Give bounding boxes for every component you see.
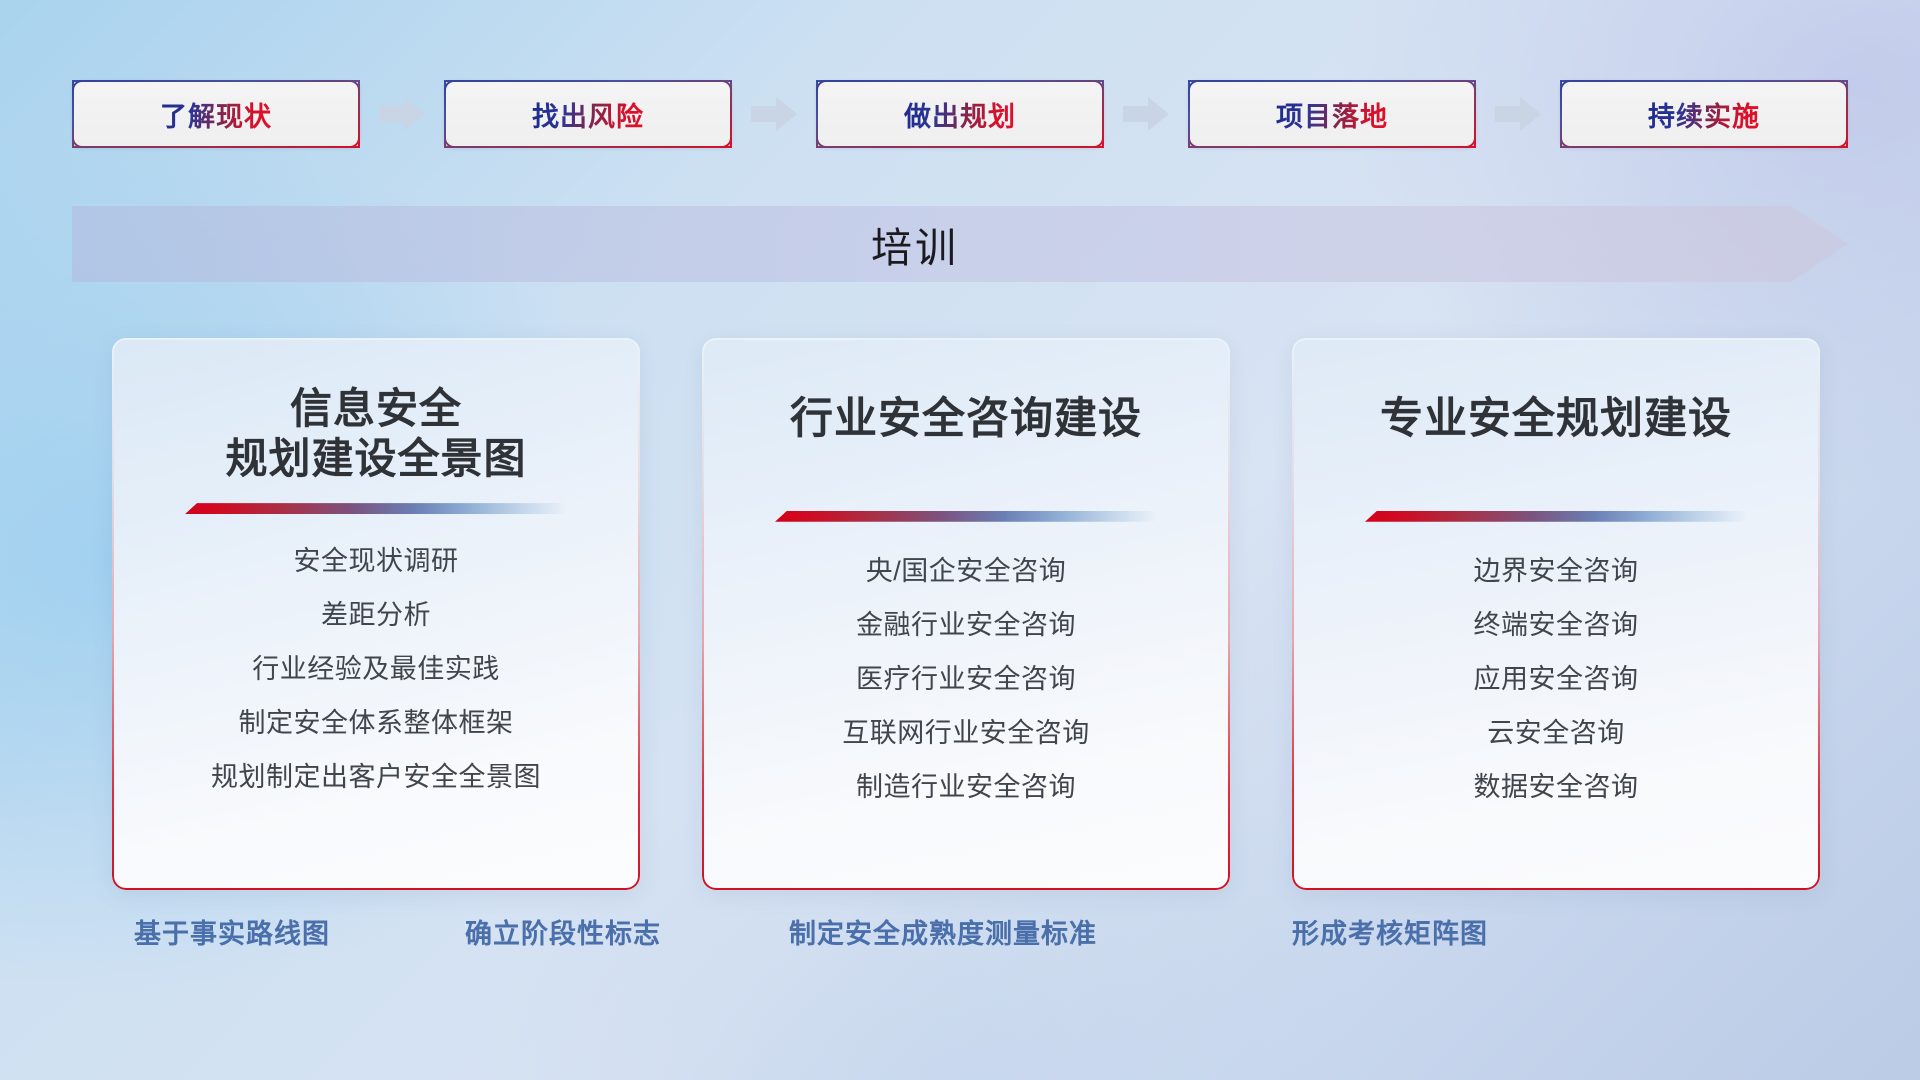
footer-note-1: 基于事实路线图	[134, 912, 330, 951]
list-item: 边界安全咨询	[1318, 558, 1794, 585]
process-steps: 了解现状 找出风险 做出规划 项目落地	[72, 78, 1848, 150]
footer-note-4: 形成考核矩阵图	[1292, 912, 1488, 951]
step-label-4: 项目落地	[1276, 95, 1388, 134]
list-item: 互联网行业安全咨询	[728, 720, 1204, 747]
training-band: 培训	[72, 206, 1848, 282]
list-item: 终端安全咨询	[1318, 612, 1794, 639]
card-title: 专业安全规划建设	[1380, 384, 1732, 445]
step-label-2: 找出风险	[532, 95, 644, 134]
list-item: 央/国企安全咨询	[728, 558, 1204, 585]
footer-notes: 基于事实路线图 确立阶段性标志 制定安全成熟度测量标准 形成考核矩阵图	[0, 912, 1920, 960]
card-divider	[775, 511, 1157, 522]
right-arrow-icon	[1123, 97, 1169, 131]
step-label-1: 了解现状	[160, 95, 272, 134]
footer-note-2: 确立阶段性标志	[465, 912, 661, 951]
list-item: 医疗行业安全咨询	[728, 666, 1204, 693]
footer-note-3: 制定安全成熟度测量标准	[789, 912, 1097, 951]
card-industry-security-consulting[interactable]: 行业安全咨询建设 央/国企安全咨询 金融行业安全咨询 医疗行业安全咨询 互联网行…	[702, 338, 1230, 890]
list-item: 规划制定出客户安全全景图	[138, 764, 614, 791]
list-item: 制定安全体系整体框架	[138, 710, 614, 737]
card-row: 信息安全 规划建设全景图 安全现状调研 差距分析 行业经验及最佳实践 制定安全体…	[112, 338, 1822, 890]
step-box-5[interactable]: 持续实施	[1560, 80, 1848, 148]
right-arrow-icon	[379, 97, 425, 131]
right-arrow-icon	[1495, 97, 1541, 131]
list-item: 制造行业安全咨询	[728, 774, 1204, 801]
list-item: 差距分析	[138, 602, 614, 629]
card-item-list: 安全现状调研 差距分析 行业经验及最佳实践 制定安全体系整体框架 规划制定出客户…	[138, 548, 614, 791]
list-item: 应用安全咨询	[1318, 666, 1794, 693]
step-box-3[interactable]: 做出规划	[816, 80, 1104, 148]
step-box-2[interactable]: 找出风险	[444, 80, 732, 148]
card-item-list: 边界安全咨询 终端安全咨询 应用安全咨询 云安全咨询 数据安全咨询	[1318, 558, 1794, 801]
card-divider	[1365, 511, 1747, 522]
card-professional-security-planning[interactable]: 专业安全规划建设 边界安全咨询 终端安全咨询 应用安全咨询 云安全咨询 数据安全…	[1292, 338, 1820, 890]
slide-canvas: 了解现状 找出风险 做出规划 项目落地	[0, 0, 1920, 1080]
card-title: 信息安全 规划建设全景图	[225, 384, 526, 483]
card-title: 行业安全咨询建设	[790, 384, 1142, 445]
card-divider	[185, 503, 567, 514]
card-information-security-blueprint[interactable]: 信息安全 规划建设全景图 安全现状调研 差距分析 行业经验及最佳实践 制定安全体…	[112, 338, 640, 890]
list-item: 行业经验及最佳实践	[138, 656, 614, 683]
step-label-5: 持续实施	[1648, 95, 1760, 134]
step-box-1[interactable]: 了解现状	[72, 80, 360, 148]
step-box-4[interactable]: 项目落地	[1188, 80, 1476, 148]
step-label-3: 做出规划	[904, 95, 1016, 134]
card-item-list: 央/国企安全咨询 金融行业安全咨询 医疗行业安全咨询 互联网行业安全咨询 制造行…	[728, 558, 1204, 801]
right-arrow-icon	[751, 97, 797, 131]
list-item: 数据安全咨询	[1318, 774, 1794, 801]
band-title: 培训	[72, 206, 1848, 282]
list-item: 安全现状调研	[138, 548, 614, 575]
list-item: 金融行业安全咨询	[728, 612, 1204, 639]
list-item: 云安全咨询	[1318, 720, 1794, 747]
